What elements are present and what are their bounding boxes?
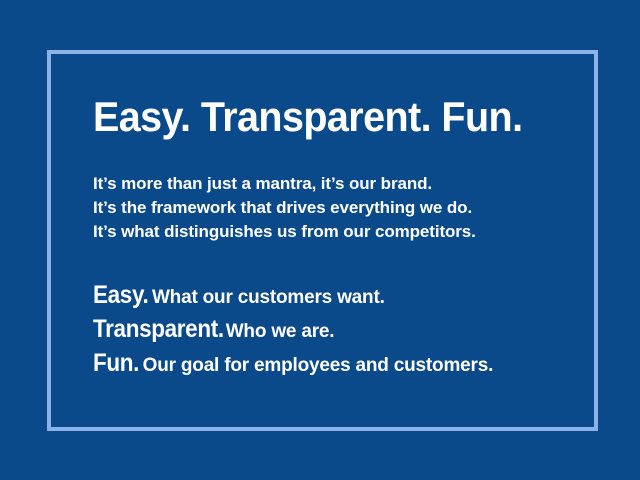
slide-content: Easy. Transparent. Fun. It’s more than j… (93, 94, 563, 382)
intro-line: It’s the framework that drives everythin… (93, 196, 563, 220)
keyword-description: Our goal for employees and customers. (143, 355, 494, 376)
keyword-description: What our customers want. (152, 287, 385, 308)
intro-line: It’s what distinguishes us from our comp… (93, 220, 563, 244)
slide: Easy. Transparent. Fun. It’s more than j… (0, 0, 640, 480)
keyword-row-transparent: Transparent. Who we are. (93, 314, 563, 348)
keyword-term: Transparent. (93, 314, 224, 344)
keyword-term: Easy. (93, 280, 148, 310)
keyword-row-easy: Easy. What our customers want. (93, 280, 563, 314)
keyword-description: Who we are. (226, 321, 335, 342)
intro-line: It’s more than just a mantra, it’s our b… (93, 172, 563, 196)
keyword-row-fun: Fun. Our goal for employees and customer… (93, 348, 563, 382)
keyword-list: Easy. What our customers want. Transpare… (93, 280, 563, 382)
intro-paragraph: It’s more than just a mantra, it’s our b… (93, 172, 563, 244)
slide-title: Easy. Transparent. Fun. (93, 94, 535, 140)
keyword-term: Fun. (93, 348, 139, 378)
